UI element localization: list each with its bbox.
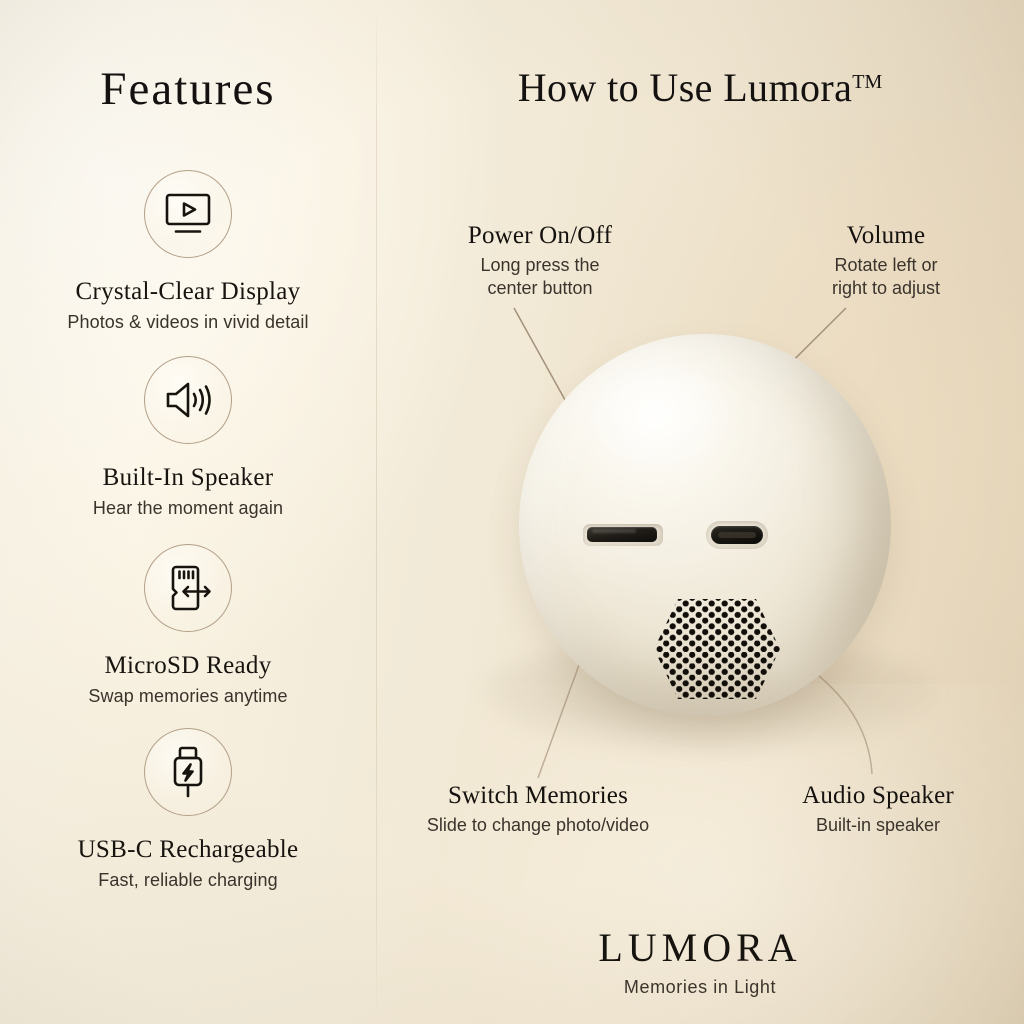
switch-slot[interactable] (583, 524, 663, 546)
usb-c-port-tongue (718, 532, 755, 539)
howto-heading-text: How to Use Lumora (518, 65, 853, 110)
usb-c-port-cavity (711, 526, 763, 544)
feature-title: MicroSD Ready (0, 652, 376, 681)
lumora-sphere-device (519, 334, 891, 716)
speaker-grille (650, 595, 784, 703)
infographic-page: Features Crystal-Clear Display Photos & … (0, 0, 1024, 1024)
annotation-subtitle-line: Rotate left or (760, 254, 1012, 277)
usb-c-port[interactable] (706, 521, 768, 549)
usb-c-bolt-icon (144, 728, 232, 816)
feature-subtitle: Swap memories anytime (0, 686, 376, 708)
howto-heading: How to Use LumoraTM (376, 64, 1024, 111)
annotation-title: Audio Speaker (756, 782, 1000, 811)
display-play-icon (144, 170, 232, 258)
annotation-subtitle: Long press the center button (404, 254, 676, 300)
panel-divider (376, 0, 377, 1024)
annotation-volume: Volume Rotate left or right to adjust (760, 222, 1012, 300)
annotation-subtitle-line: Slide to change photo/video (388, 814, 688, 837)
annotation-subtitle-line: Built-in speaker (756, 814, 1000, 837)
annotation-audio-speaker: Audio Speaker Built-in speaker (756, 782, 1000, 837)
feature-title: Crystal-Clear Display (0, 278, 376, 307)
switch-knob[interactable] (587, 527, 657, 542)
annotation-title: Volume (760, 222, 1012, 251)
annotation-subtitle-line: center button (404, 277, 676, 300)
brand-lockup: LUMORA Memories in Light (376, 924, 1024, 998)
feature-item-microsd: MicroSD Ready Swap memories anytime (0, 544, 376, 707)
feature-subtitle: Hear the moment again (0, 498, 376, 520)
feature-subtitle: Photos & videos in vivid detail (0, 312, 376, 334)
trademark-mark: TM (852, 71, 882, 93)
feature-title: USB-C Rechargeable (0, 836, 376, 865)
features-heading: Features (0, 62, 376, 116)
annotation-title: Power On/Off (404, 222, 676, 251)
annotation-subtitle-line: Long press the (404, 254, 676, 277)
annotation-power: Power On/Off Long press the center butto… (404, 222, 676, 300)
feature-item-display: Crystal-Clear Display Photos & videos in… (0, 170, 376, 333)
brand-name: LUMORA (376, 924, 1024, 971)
annotation-subtitle: Built-in speaker (756, 814, 1000, 837)
annotation-title: Switch Memories (388, 782, 688, 811)
microsd-swap-icon (144, 544, 232, 632)
annotation-subtitle-line: right to adjust (760, 277, 1012, 300)
annotation-subtitle: Rotate left or right to adjust (760, 254, 1012, 300)
annotation-switch-memories: Switch Memories Slide to change photo/vi… (388, 782, 688, 837)
feature-item-speaker: Built-In Speaker Hear the moment again (0, 356, 376, 519)
annotation-subtitle: Slide to change photo/video (388, 814, 688, 837)
speaker-waves-icon (144, 356, 232, 444)
feature-subtitle: Fast, reliable charging (0, 870, 376, 892)
brand-tagline: Memories in Light (376, 977, 1024, 998)
feature-title: Built-In Speaker (0, 464, 376, 493)
feature-item-usbc: USB-C Rechargeable Fast, reliable chargi… (0, 728, 376, 891)
